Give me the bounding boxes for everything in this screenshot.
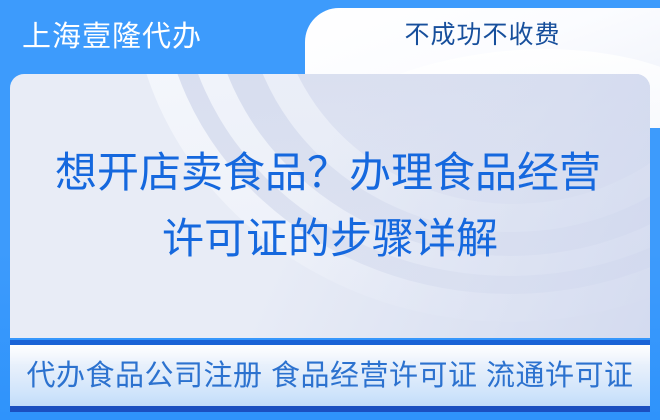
headline-block: 想开店卖食品？办理食品经营 许可证的步骤详解 [10,74,650,338]
keyword-banner: 代办食品公司注册 食品经营许可证 流通许可证 [10,340,650,412]
headline-line-2: 许可证的步骤详解 [162,206,498,272]
keyword-banner-text: 代办食品公司注册 食品经营许可证 流通许可证 [10,345,650,406]
brand-logo-text: 上海壹隆代办 [22,17,202,57]
headline-line-1: 想开店卖食品？办理食品经营 [55,140,601,206]
main-card: 想开店卖食品？办理食品经营 许可证的步骤详解 [10,74,650,338]
slogan-text: 不成功不收费 [305,18,660,52]
promo-poster: 上海壹隆代办 不成功不收费 想开店卖食品？办理食品经营 许可证的步骤详解 代办食… [0,0,660,420]
footer-blue-edge [0,412,660,420]
